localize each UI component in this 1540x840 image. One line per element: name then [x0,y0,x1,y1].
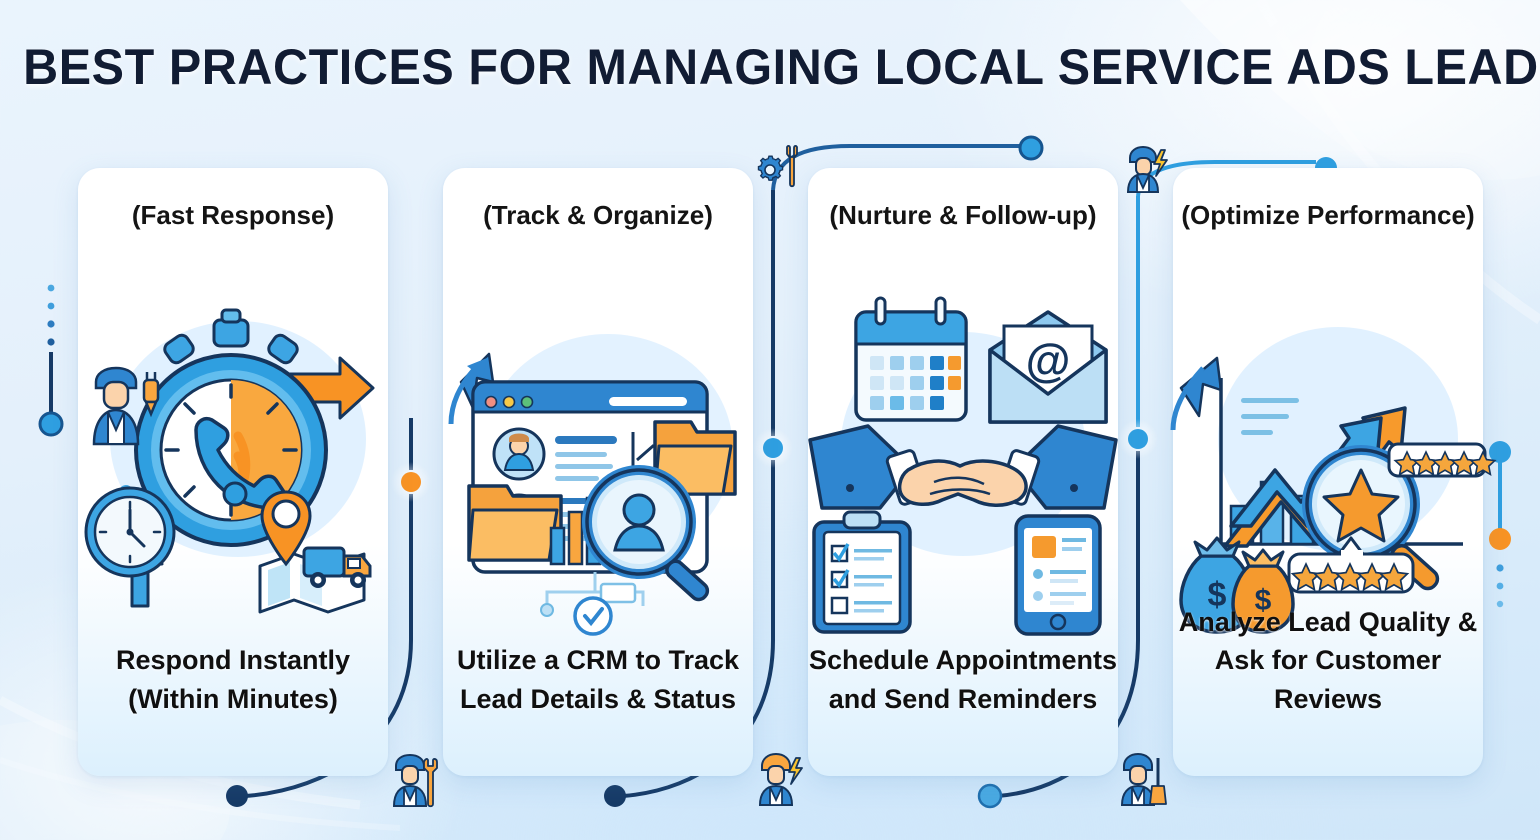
card-header: (Track & Organize) [443,200,753,231]
connector-dot-top-mid [1020,137,1042,159]
gear-wrench-icon [752,140,808,196]
check-circle-icon [575,598,611,634]
card-optimize-performance[interactable]: (Optimize Performance) [1173,168,1483,776]
wall-clock-icon [86,488,174,576]
plumber-wrench-icon [388,748,442,808]
folder-icon [469,486,561,560]
construction-worker-bolt-icon [752,748,806,806]
calendar-icon [856,298,966,420]
svg-text:@: @ [1026,334,1071,386]
connector-right-edge [1496,460,1503,607]
electrician-bolt-icon [1118,140,1172,194]
card-header: (Fast Response) [78,200,388,231]
card-caption: Schedule Appointments and Send Reminders [808,641,1118,718]
card-fast-response[interactable]: (Fast Response) [78,168,388,776]
connector-dot-bottom-right [979,785,1001,807]
connector-dot-bottom-left [226,785,248,807]
clipboard-checklist-icon [814,512,910,632]
card4-artwork: $ $ [1173,254,1483,634]
connector-dot-bottom-mid [604,785,626,807]
connector-dot-card1-card2 [391,462,431,502]
card1-artwork [78,254,388,634]
card-header: (Optimize Performance) [1173,200,1483,231]
connector-left-edge [47,285,54,420]
connector-dot-card2-card3 [753,428,793,468]
five-star-rating-icon [1389,444,1495,476]
card3-artwork: @ [808,254,1118,634]
blue-arrow-up-icon [1173,358,1221,430]
card-caption: Analyze Lead Quality & Ask for Customer … [1173,603,1483,718]
card-track-organize[interactable]: (Track & Organize) [443,168,753,776]
contact-avatar-icon [494,429,544,479]
connector-dot-card3-card4 [1118,419,1158,459]
card2-artwork [443,254,753,634]
cleaner-broom-icon [1114,748,1168,806]
card-caption: Utilize a CRM to Track Lead Details & St… [443,641,753,718]
card-caption: Respond Instantly (Within Minutes) [78,641,388,718]
page-title: BEST PRACTICES FOR MANAGING LOCAL SERVIC… [23,38,1517,96]
card-header: (Nurture & Follow-up) [808,200,1118,231]
smartphone-icon [1016,516,1100,634]
card-nurture-followup[interactable]: (Nurture & Follow-up) [808,168,1118,776]
email-envelope-icon: @ [990,312,1106,422]
connector-dot-right-edge-orange [1489,528,1511,550]
connector-dot-left-edge [40,413,62,435]
